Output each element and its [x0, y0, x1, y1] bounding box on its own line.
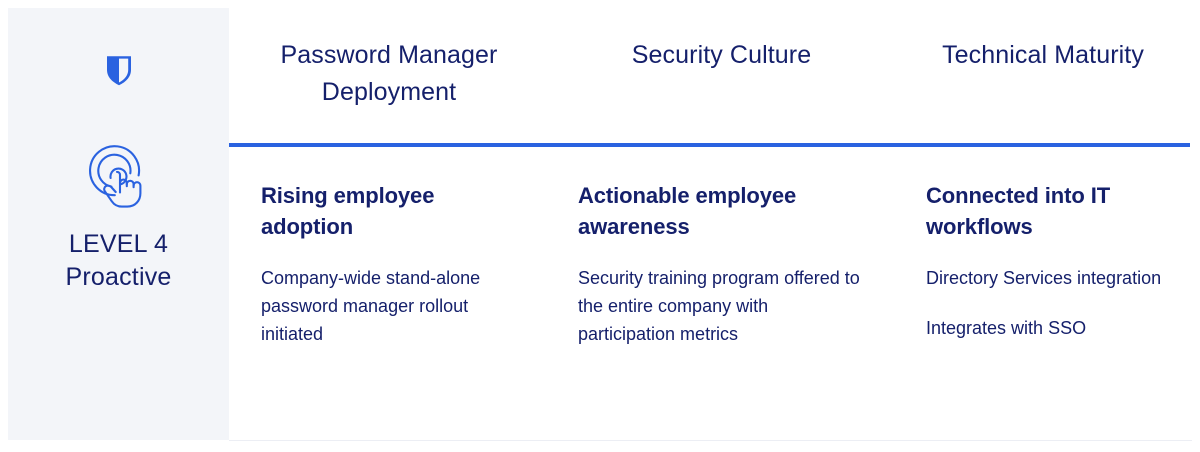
column-header-text: Technical Maturity [908, 37, 1178, 74]
cell-paragraph: Directory Services integration [926, 264, 1170, 292]
level-title: LEVEL 4 Proactive [65, 228, 171, 294]
cell-heading: Connected into IT workflows [926, 180, 1170, 242]
column-header-password-manager-deployment: Password Manager Deployment [229, 8, 549, 143]
column-header-technical-maturity: Technical Maturity [894, 8, 1192, 143]
column-body-row: Rising employee adoption Company-wide st… [229, 147, 1192, 440]
bottom-divider-rule [229, 440, 1192, 441]
level-number-label: LEVEL 4 [69, 230, 168, 258]
column-body-technical-maturity: Connected into IT workflows Directory Se… [894, 147, 1192, 440]
maturity-level-board: LEVEL 4 Proactive Password Manager Deplo… [0, 0, 1200, 452]
column-header-security-culture: Security Culture [549, 8, 894, 143]
cell-heading: Actionable employee awareness [578, 180, 868, 242]
column-body-password-manager-deployment: Rising employee adoption Company-wide st… [229, 147, 549, 440]
column-body-security-culture: Actionable employee awareness Security t… [549, 147, 894, 440]
cell-paragraph: Company-wide stand-alone password manage… [261, 264, 523, 348]
criteria-grid: Password Manager Deployment Security Cul… [229, 8, 1192, 440]
tap-gesture-icon [80, 138, 158, 212]
column-header-row: Password Manager Deployment Security Cul… [229, 8, 1192, 143]
column-header-line-1: Password Manager [281, 41, 498, 69]
cell-paragraph: Security training program offered to the… [578, 264, 868, 348]
column-header-line-2: Deployment [322, 78, 456, 106]
level-name-label: Proactive [65, 261, 171, 294]
shield-icon [106, 54, 132, 86]
level-panel: LEVEL 4 Proactive [8, 8, 229, 440]
column-header-text: Security Culture [563, 37, 880, 74]
cell-paragraph: Integrates with SSO [926, 314, 1170, 342]
column-header-text: Password Manager Deployment [243, 37, 535, 111]
cell-heading: Rising employee adoption [261, 180, 523, 242]
